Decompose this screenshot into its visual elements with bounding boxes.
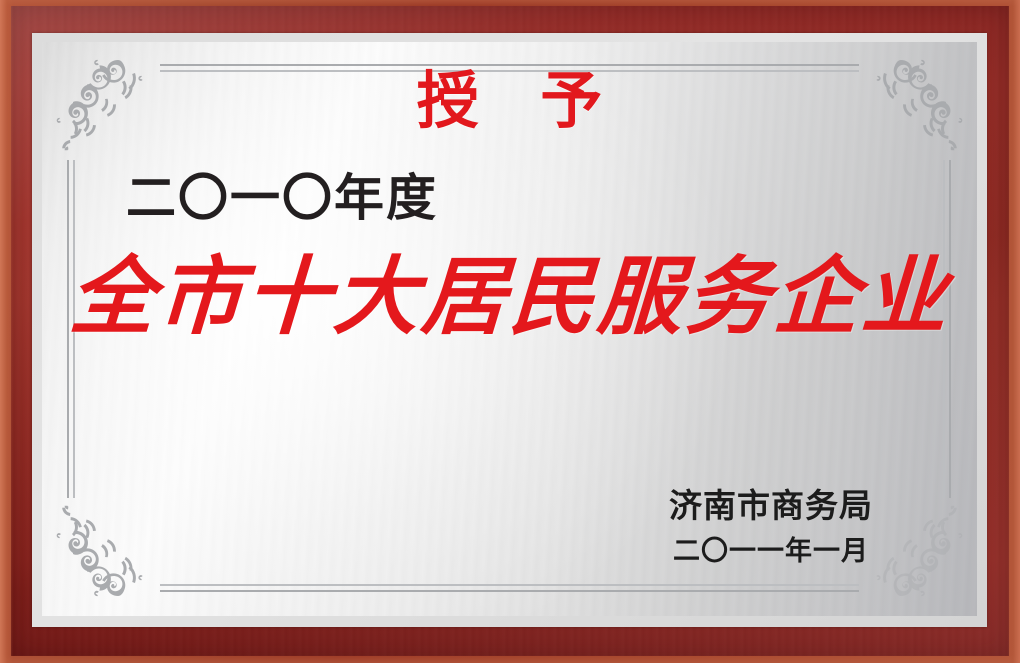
certificate-content: 授 予 二〇一〇年度 全市十大居民服务企业 济南市商务局 二〇一一年一月 (42, 42, 977, 616)
plaque-mat-border: 授 予 二〇一〇年度 全市十大居民服务企业 济南市商务局 二〇一一年一月 (32, 33, 987, 627)
award-verb-text: 授 予 (42, 62, 977, 140)
award-title-text: 全市十大居民服务企业 (42, 252, 977, 344)
issue-date-text: 二〇一一年一月 (669, 536, 873, 568)
award-year-text: 二〇一〇年度 (126, 170, 438, 225)
award-plaque: 授 予 二〇一〇年度 全市十大居民服务企业 济南市商务局 二〇一一年一月 (0, 0, 1020, 663)
issuer-name-text: 济南市商务局 (669, 485, 873, 526)
issuer-block: 济南市商务局 二〇一一年一月 (669, 485, 873, 568)
plaque-metal-plate: 授 予 二〇一〇年度 全市十大居民服务企业 济南市商务局 二〇一一年一月 (42, 42, 977, 616)
